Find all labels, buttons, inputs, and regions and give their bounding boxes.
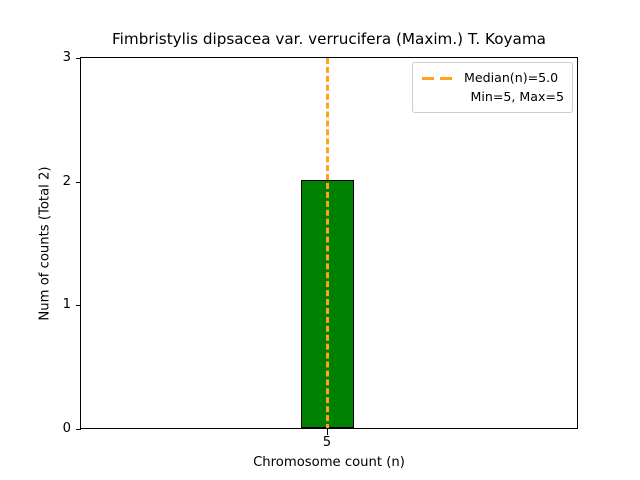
legend: Median(n)=5.0 Min=5, Max=5 bbox=[412, 62, 573, 113]
ytick-mark-2 bbox=[76, 182, 82, 183]
chart-figure: Fimbristylis dipsacea var. verrucifera (… bbox=[0, 0, 640, 480]
y-axis-label: Num of counts (Total 2) bbox=[38, 58, 53, 430]
legend-row-minmax: Min=5, Max=5 bbox=[421, 87, 564, 106]
chart-title: Fimbristylis dipsacea var. verrucifera (… bbox=[80, 30, 578, 48]
ytick-mark-3 bbox=[76, 58, 82, 59]
ytick-mark-0 bbox=[76, 429, 82, 430]
plot-area: 0 1 2 3 5 Median(n)=5.0 Min=5, Max=5 bbox=[80, 57, 578, 429]
legend-label-minmax: Min=5, Max=5 bbox=[470, 89, 564, 104]
legend-row-median: Median(n)=5.0 bbox=[421, 68, 564, 87]
median-line bbox=[326, 58, 329, 428]
xtick-mark-5 bbox=[327, 429, 328, 435]
legend-label-median: Median(n)=5.0 bbox=[464, 70, 558, 85]
ytick-mark-1 bbox=[76, 305, 82, 306]
dashed-line-icon bbox=[421, 72, 457, 84]
plot-inner bbox=[81, 58, 577, 428]
xtick-label-5: 5 bbox=[323, 435, 331, 450]
x-axis-label: Chromosome count (n) bbox=[80, 455, 578, 470]
